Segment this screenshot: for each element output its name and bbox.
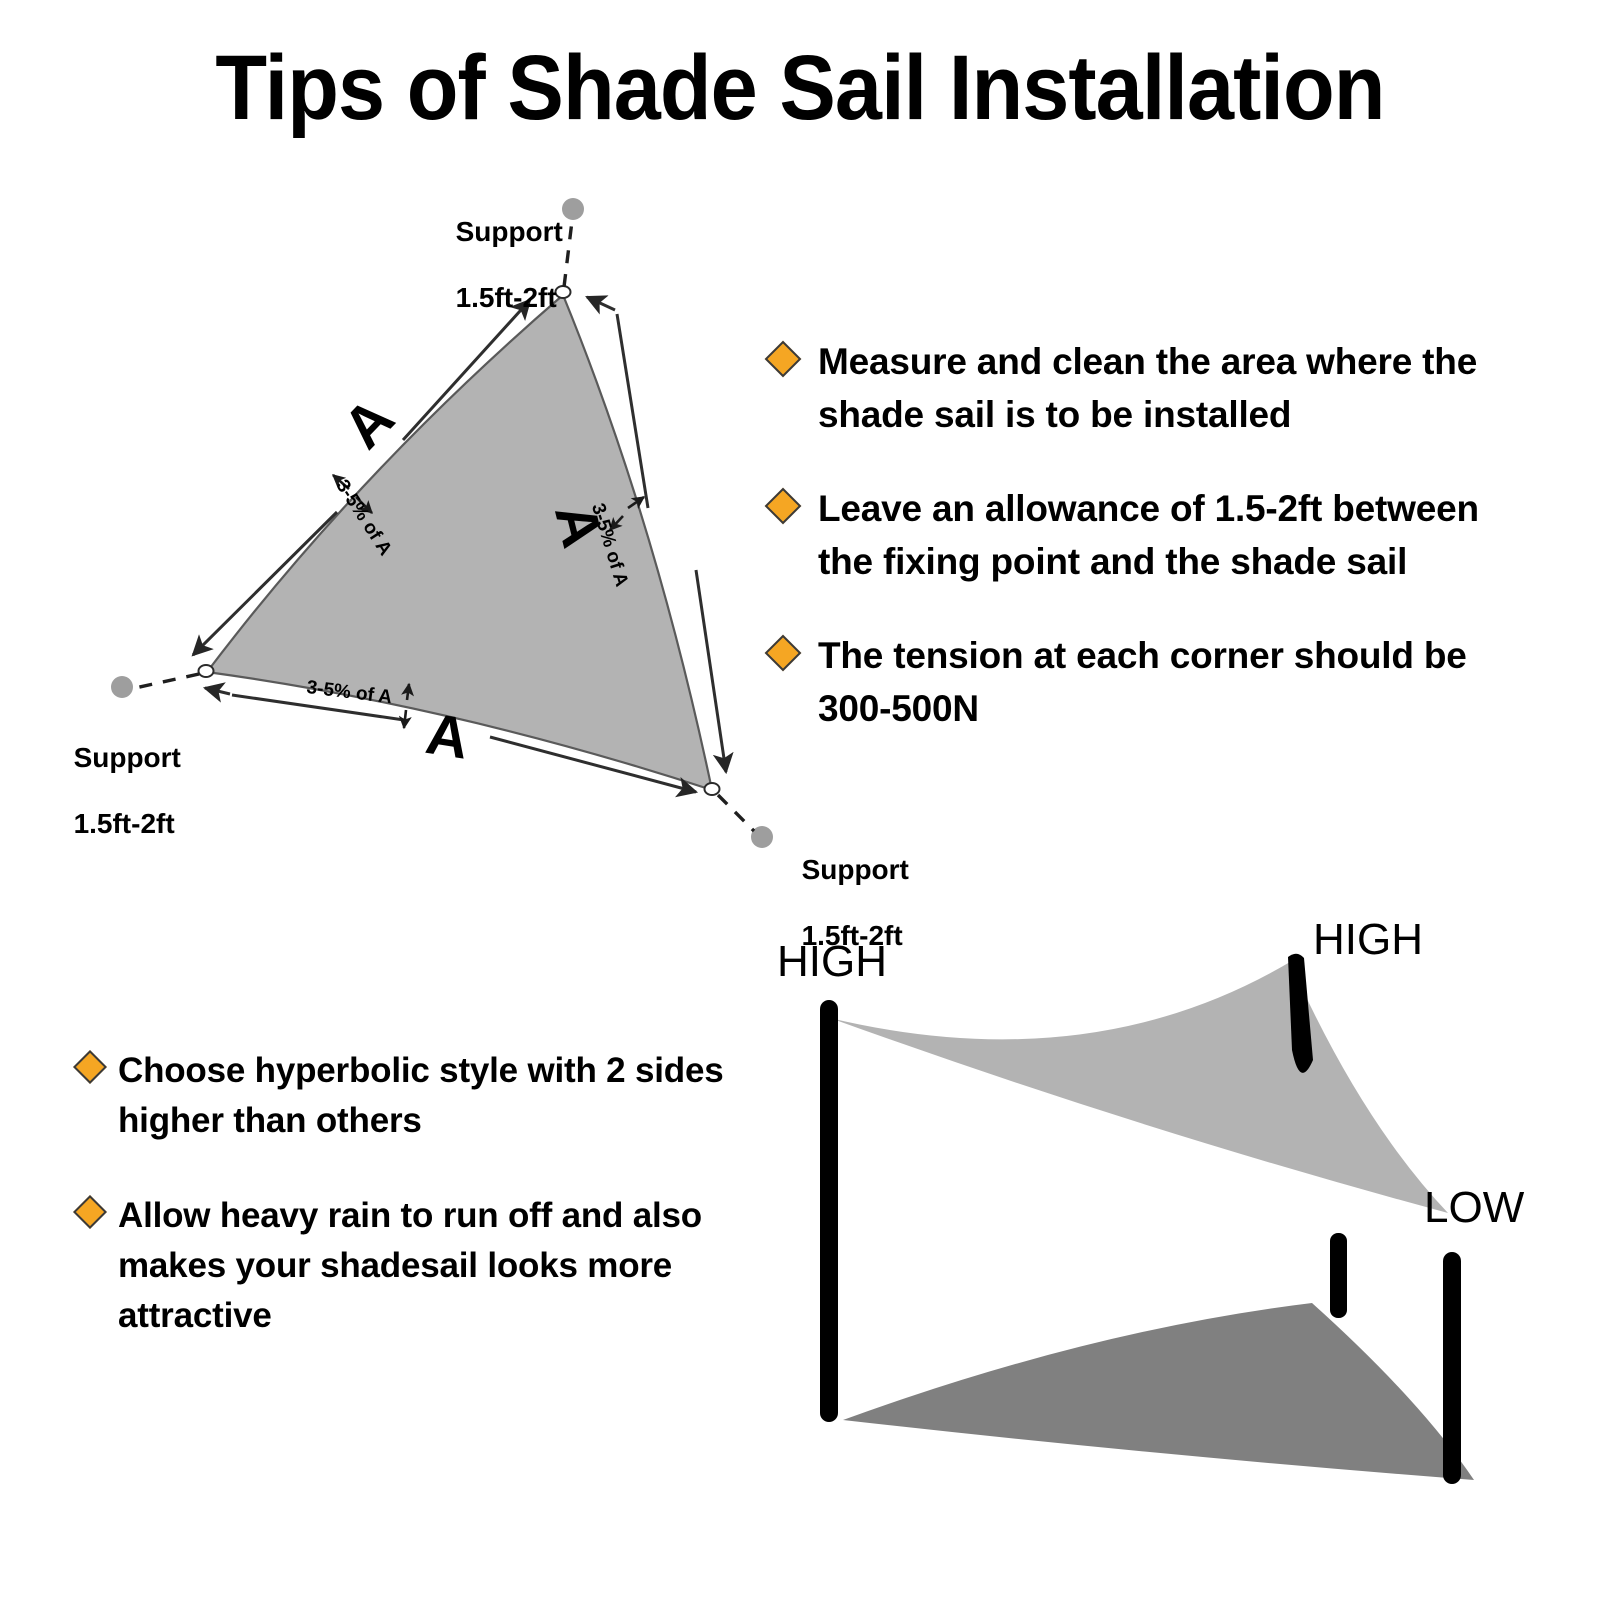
post-high-left-label: HIGH bbox=[777, 937, 887, 987]
list-item[interactable]: Choose hyperbolic style with 2 sides hig… bbox=[78, 1046, 778, 1145]
support-top-label: Support 1.5ft-2ft bbox=[440, 182, 555, 314]
support-bottom-left-label: Support 1.5ft-2ft bbox=[58, 708, 238, 840]
list-item[interactable]: Measure and clean the area where the sha… bbox=[770, 336, 1540, 441]
list-item-label: Leave an allowance of 1.5-2ft between th… bbox=[818, 483, 1540, 588]
support-bottom-left-label-line1: Support bbox=[74, 742, 181, 773]
post-high-right-label: HIGH bbox=[1313, 915, 1423, 965]
hyperbolic-sail-surface bbox=[830, 962, 1448, 1213]
list-item-label: Allow heavy rain to run off and also mak… bbox=[118, 1191, 778, 1340]
support-bottom-right-label-line1: Support bbox=[802, 854, 909, 885]
diamond-bullet-icon bbox=[765, 341, 802, 378]
list-item[interactable]: Leave an allowance of 1.5-2ft between th… bbox=[770, 483, 1540, 588]
support-top-label-line1: Support bbox=[456, 216, 563, 247]
diamond-bullet-icon bbox=[73, 1050, 107, 1084]
list-item-label: Choose hyperbolic style with 2 sides hig… bbox=[118, 1046, 778, 1145]
support-top-label-line2: 1.5ft-2ft bbox=[456, 282, 557, 313]
post-high-left bbox=[820, 1000, 838, 1422]
diamond-bullet-icon bbox=[73, 1195, 107, 1229]
tips-list-right: Measure and clean the area where the sha… bbox=[770, 336, 1540, 777]
post-low-right-label: LOW bbox=[1424, 1183, 1524, 1233]
support-bottom-right-label: Support 1.5ft-2ft bbox=[786, 820, 986, 952]
diamond-bullet-icon bbox=[765, 488, 802, 525]
list-item[interactable]: Allow heavy rain to run off and also mak… bbox=[78, 1191, 778, 1340]
support-bottom-left-label-line2: 1.5ft-2ft bbox=[74, 808, 175, 839]
tips-list-lower-left: Choose hyperbolic style with 2 sides hig… bbox=[78, 1046, 778, 1386]
list-item-label: Measure and clean the area where the sha… bbox=[818, 336, 1540, 441]
post-high-right bbox=[1288, 954, 1313, 1073]
list-item-label: The tension at each corner should be 300… bbox=[818, 630, 1540, 735]
post-middle bbox=[1330, 1233, 1347, 1318]
sail-ground-shadow bbox=[843, 1303, 1474, 1480]
post-low-right bbox=[1443, 1252, 1461, 1484]
list-item[interactable]: The tension at each corner should be 300… bbox=[770, 630, 1540, 735]
diamond-bullet-icon bbox=[765, 635, 802, 672]
